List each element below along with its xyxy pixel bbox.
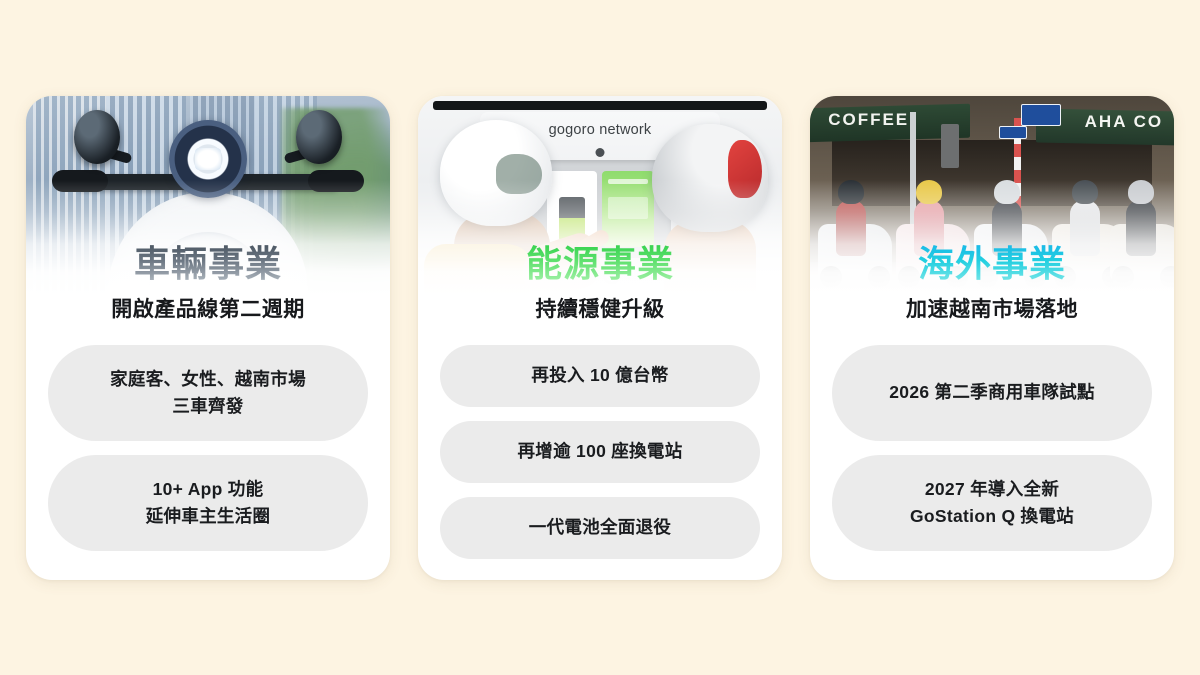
pill-item[interactable]: 家庭客、女性、越南市場 三車齊發	[48, 345, 368, 441]
card-text-vehicle: 車輛事業 開啟產品線第二週期 家庭客、女性、越南市場 三車齊發 10+ App …	[26, 96, 390, 551]
card-subtitle-overseas: 加速越南市場落地	[906, 293, 1078, 323]
pill-text: 2026 第二季商用車隊試點	[889, 379, 1095, 406]
pill-text: 一代電池全面退役	[529, 514, 671, 541]
pill-text: 10+ App 功能 延伸車主生活圈	[146, 476, 271, 530]
card-title-energy: 能源事業	[526, 244, 674, 284]
card-text-overseas: 海外事業 加速越南市場落地 2026 第二季商用車隊試點 2027 年導入全新 …	[810, 96, 1174, 551]
pill-text: 2027 年導入全新 GoStation Q 換電站	[910, 476, 1074, 530]
pill-line: 10+ App 功能	[153, 479, 264, 499]
pill-line: 家庭客、女性、越南市場	[110, 369, 306, 389]
card-title-overseas: 海外事業	[918, 244, 1066, 284]
pill-text: 家庭客、女性、越南市場 三車齊發	[110, 366, 306, 420]
pill-line: 三車齊發	[172, 396, 243, 416]
pill-item[interactable]: 一代電池全面退役	[440, 497, 760, 559]
pill-item[interactable]: 10+ App 功能 延伸車主生活圈	[48, 455, 368, 551]
card-title-vehicle: 車輛事業	[134, 244, 282, 284]
card-subtitle-vehicle: 開啟產品線第二週期	[111, 293, 305, 323]
pill-item[interactable]: 2026 第二季商用車隊試點	[832, 345, 1152, 441]
pill-item[interactable]: 2027 年導入全新 GoStation Q 換電站	[832, 455, 1152, 551]
pill-line: 2027 年導入全新	[925, 479, 1059, 499]
pill-list-energy: 再投入 10 億台幣 再增逾 100 座換電站 一代電池全面退役	[418, 345, 782, 559]
pill-list-vehicle: 家庭客、女性、越南市場 三車齊發 10+ App 功能 延伸車主生活圈	[26, 345, 390, 551]
pill-text: 再投入 10 億台幣	[531, 362, 668, 389]
card-subtitle-energy: 持續穩健升級	[536, 293, 665, 323]
pill-text: 再增逾 100 座換電站	[517, 438, 682, 465]
pill-list-overseas: 2026 第二季商用車隊試點 2027 年導入全新 GoStation Q 換電…	[810, 345, 1174, 551]
cards-board: 車輛事業 開啟產品線第二週期 家庭客、女性、越南市場 三車齊發 10+ App …	[0, 0, 1200, 675]
pill-item[interactable]: 再增逾 100 座換電站	[440, 421, 760, 483]
business-card-overseas[interactable]: COFFEE AHA CO	[810, 96, 1174, 580]
pill-item[interactable]: 再投入 10 億台幣	[440, 345, 760, 407]
pill-line: GoStation Q 換電站	[910, 506, 1074, 526]
card-text-energy: 能源事業 持續穩健升級 再投入 10 億台幣 再增逾 100 座換電站 一代電池…	[418, 96, 782, 559]
business-card-energy[interactable]: gogoro network 能源事業 持續穩健升級 再投入 10 億台幣 再增…	[418, 96, 782, 580]
business-card-vehicle[interactable]: 車輛事業 開啟產品線第二週期 家庭客、女性、越南市場 三車齊發 10+ App …	[26, 96, 390, 580]
pill-line: 延伸車主生活圈	[146, 506, 271, 526]
